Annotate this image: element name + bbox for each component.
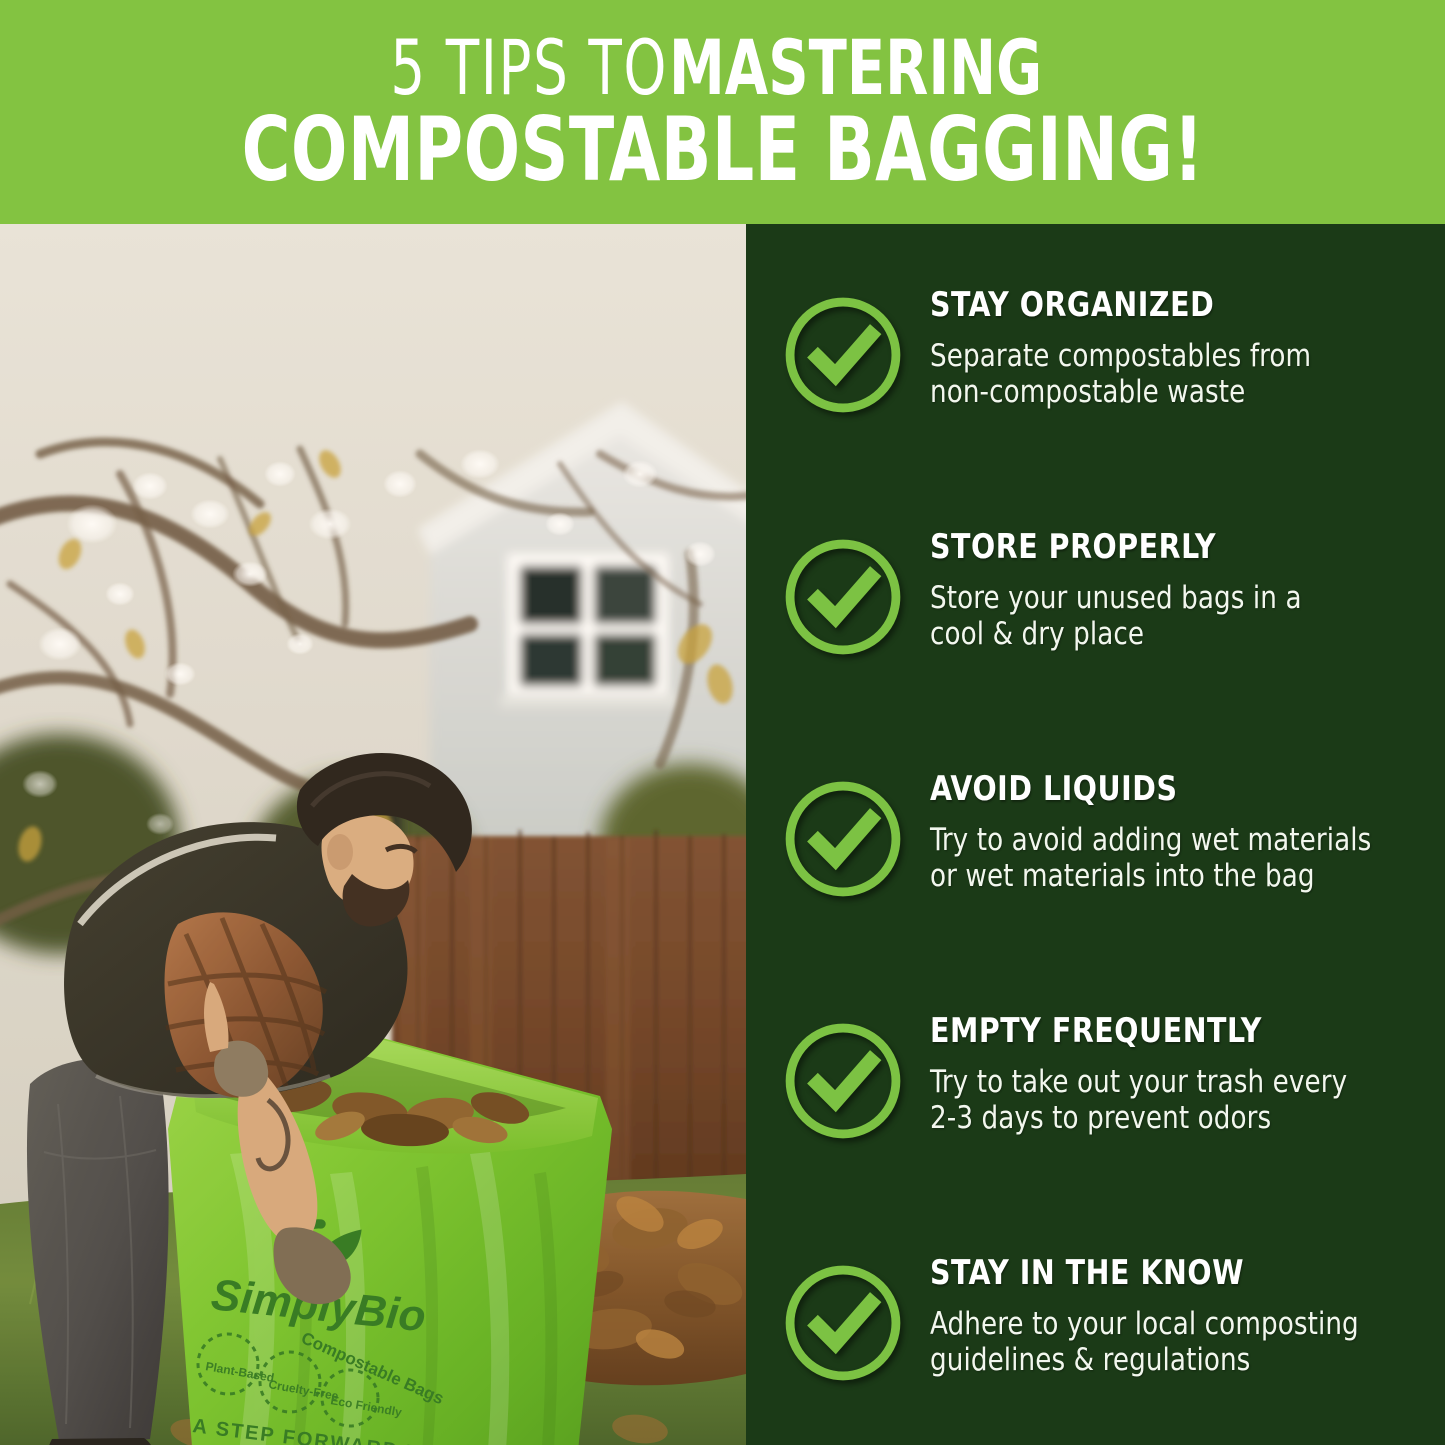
tip-body: Adhere to your local composting guidelin… bbox=[930, 1306, 1359, 1379]
check-circle-icon bbox=[780, 534, 906, 660]
page-title-line-2: COMPOSTABLE BAGGING! bbox=[241, 109, 1203, 191]
tip-title: AVOID LIQUIDS bbox=[930, 772, 1367, 808]
tip-title: EMPTY FREQUENTLY bbox=[930, 1014, 1343, 1050]
hero-photo: SimplyBio Compostable Bags Plant-Based C… bbox=[0, 224, 746, 1445]
tip-item: STAY IN THE KNOW Adhere to your local co… bbox=[780, 1248, 1415, 1445]
tip-item: AVOID LIQUIDS Try to avoid adding wet ma… bbox=[780, 764, 1415, 966]
check-circle-icon bbox=[780, 292, 906, 418]
tip-item: STAY ORGANIZED Separate compostables fro… bbox=[780, 280, 1415, 482]
tip-body: Try to avoid adding wet materials or wet… bbox=[930, 822, 1371, 895]
tip-title: STAY ORGANIZED bbox=[930, 288, 1307, 324]
tip-text: STAY IN THE KNOW Adhere to your local co… bbox=[906, 1248, 1386, 1378]
tip-body: Separate compostables from non-compostab… bbox=[930, 338, 1311, 411]
tip-item: EMPTY FREQUENTLY Try to take out your tr… bbox=[780, 1006, 1415, 1208]
title-prefix: 5 TIPS TO bbox=[391, 33, 669, 104]
page-title-line-1: 5 TIPS TO MASTERING bbox=[321, 33, 1123, 105]
tip-text: EMPTY FREQUENTLY Try to take out your tr… bbox=[906, 1006, 1374, 1136]
tip-title: STAY IN THE KNOW bbox=[930, 1256, 1354, 1292]
tip-body: Store your unused bags in a cool & dry p… bbox=[930, 580, 1302, 653]
tips-panel: STAY ORGANIZED Separate compostables fro… bbox=[746, 224, 1445, 1445]
tip-text: AVOID LIQUIDS Try to avoid adding wet ma… bbox=[906, 764, 1400, 894]
tip-text: STORE PROPERLY Store your unused bags in… bbox=[906, 522, 1325, 652]
title-emphasis: MASTERING bbox=[669, 33, 1042, 104]
photo-illustration: SimplyBio Compostable Bags Plant-Based C… bbox=[0, 224, 746, 1445]
tip-title: STORE PROPERLY bbox=[930, 530, 1298, 566]
check-circle-icon bbox=[780, 1018, 906, 1144]
header-banner: 5 TIPS TO MASTERING COMPOSTABLE BAGGING! bbox=[0, 0, 1445, 224]
infographic-page: 5 TIPS TO MASTERING COMPOSTABLE BAGGING! bbox=[0, 0, 1445, 1445]
check-circle-icon bbox=[780, 1260, 906, 1386]
check-circle-icon bbox=[780, 776, 906, 902]
tip-text: STAY ORGANIZED Separate compostables fro… bbox=[906, 280, 1335, 410]
tip-item: STORE PROPERLY Store your unused bags in… bbox=[780, 522, 1415, 724]
tip-body: Try to take out your trash every 2-3 day… bbox=[930, 1064, 1347, 1137]
